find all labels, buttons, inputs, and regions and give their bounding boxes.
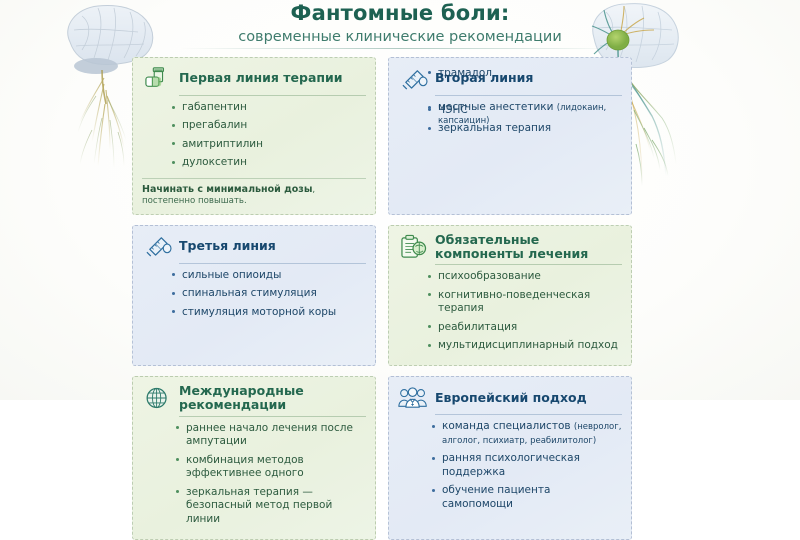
card-item-list: команда специалистов (невролог, алголог,…: [398, 420, 622, 516]
list-item: трамадол: [428, 67, 622, 85]
medical-team-icon: [398, 384, 428, 410]
list-item: спинальная стимуляция: [172, 287, 366, 305]
infographic-canvas: Фантомные боли: современные клинические …: [0, 0, 800, 400]
list-item: комбинация методов эффективнее одного: [176, 454, 366, 486]
card-third-line[interactable]: Третья линия сильные опиоиды спинальная …: [132, 225, 376, 367]
page-title: Фантомные боли:: [0, 2, 800, 25]
list-item: ЧЭНС: [428, 104, 622, 122]
globe-icon: [142, 385, 172, 411]
card-title: Первая линия терапии: [179, 71, 343, 85]
card-item-list: сильные опиоиды спинальная стимуляция ст…: [142, 269, 366, 324]
list-item: габапентин: [172, 101, 366, 119]
card-item-list: психообразование когнитивно-поведенческа…: [398, 270, 622, 357]
page-subtitle: современные клинические рекомендации: [0, 29, 800, 46]
card-title-divider: [179, 416, 366, 417]
card-european-approach[interactable]: Европейский подход команда специалистов …: [388, 376, 632, 540]
list-item: стимуляция моторной коры: [172, 306, 366, 324]
card-title: Европейский подход: [435, 391, 587, 405]
list-item: сильные опиоиды: [172, 269, 366, 287]
list-item: обучение пациента самопомощи: [432, 484, 622, 516]
card-header: Первая линия терапии: [142, 65, 366, 94]
card-mandatory-components[interactable]: Обязательные компоненты лечения психообр…: [388, 225, 632, 367]
card-header: Обязательные компоненты лечения: [398, 233, 622, 264]
list-item: реабилитация: [428, 321, 622, 339]
header-divider: [180, 48, 620, 49]
list-item: команда специалистов (невролог, алголог,…: [432, 420, 622, 452]
card-title-divider: [179, 263, 366, 264]
list-item: амитриптилин: [172, 138, 366, 156]
card-footnote: Начинать с минимальной дозы, постепенно …: [142, 178, 366, 206]
card-title: Третья линия: [179, 239, 276, 253]
card-title-divider: [435, 264, 622, 265]
card-item-list-plain: трамадол x ЧЭНС зеркальная терапия: [398, 67, 622, 141]
card-title: Обязательные компоненты лечения: [435, 233, 622, 261]
list-item: прегабалин: [172, 119, 366, 137]
footnote-strong: Начинать с минимальной дозы: [142, 184, 312, 195]
card-header: Третья линия: [142, 233, 366, 262]
card-header: Европейский подход: [398, 384, 622, 413]
card-international-recommendations[interactable]: Международные рекомендации раннее начало…: [132, 376, 376, 540]
card-first-line-therapy[interactable]: Первая линия терапии габапентин прегабал…: [132, 57, 376, 215]
syringe-icon: [398, 65, 428, 91]
pill-bottle-icon: [142, 65, 172, 91]
list-item: зеркальная терапия: [428, 122, 622, 140]
card-item-list: габапентин прегабалин амитриптилин дулок…: [142, 101, 366, 175]
syringe-icon: [142, 233, 172, 259]
card-second-line[interactable]: Вторая линия местные анестетики (лидокаи…: [388, 57, 632, 215]
card-title-divider: [435, 414, 622, 415]
card-title: Международные рекомендации: [179, 384, 366, 412]
cards-grid: Первая линия терапии габапентин прегабал…: [132, 57, 660, 540]
clipboard-brain-icon: [398, 234, 428, 260]
page-header: Фантомные боли: современные клинические …: [0, 2, 800, 46]
list-item: мультидисциплинарный подход: [428, 339, 622, 357]
list-item: зеркальная терапия — безопасный метод пе…: [176, 486, 366, 531]
list-item: когнитивно-поведенческая терапия: [428, 289, 622, 321]
list-item: раннее начало лечения после ампутации: [176, 422, 366, 454]
list-item: ранняя психологическая поддержка: [432, 452, 622, 484]
list-item: дулоксетин: [172, 156, 366, 174]
list-item: психообразование: [428, 270, 622, 288]
card-item-list: раннее начало лечения после ампутации ко…: [142, 422, 366, 531]
card-title-divider: [179, 95, 366, 96]
